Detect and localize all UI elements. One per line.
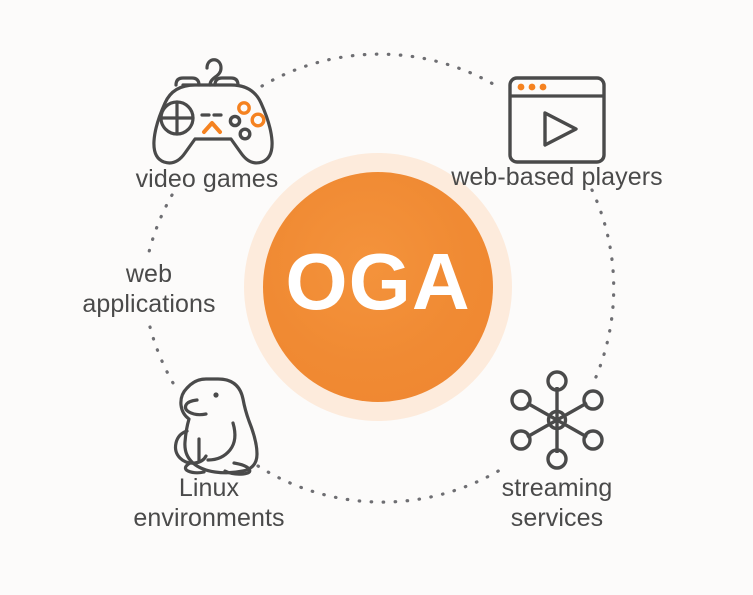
browser-play-icon bbox=[510, 78, 604, 162]
center-core-circle bbox=[263, 172, 493, 402]
center-circle bbox=[244, 153, 512, 421]
oga-ecosystem-diagram: OGA video games web-based players stream… bbox=[0, 0, 753, 595]
connector-arc-left-lower bbox=[150, 327, 176, 388]
gamepad-icon bbox=[154, 60, 272, 163]
connector-arc-right bbox=[592, 190, 614, 386]
browser-dot-1 bbox=[518, 84, 525, 91]
hub-node-upper-right bbox=[584, 391, 602, 409]
gamepad-chevron-accent bbox=[204, 123, 220, 132]
connector-arc-left-upper bbox=[149, 195, 172, 252]
hub-node-lower-left bbox=[512, 431, 530, 449]
hub-node-upper-left bbox=[512, 391, 530, 409]
connector-arc-top bbox=[262, 54, 500, 88]
connector-arc-bottom bbox=[258, 466, 500, 502]
browser-dot-3 bbox=[540, 84, 547, 91]
hub-node-lower-right bbox=[584, 431, 602, 449]
browser-dot-2 bbox=[529, 84, 536, 91]
play-triangle-icon bbox=[545, 113, 576, 145]
network-hub-icon bbox=[512, 372, 602, 468]
penguin-icon bbox=[176, 379, 258, 474]
diagram-canvas bbox=[0, 0, 753, 595]
